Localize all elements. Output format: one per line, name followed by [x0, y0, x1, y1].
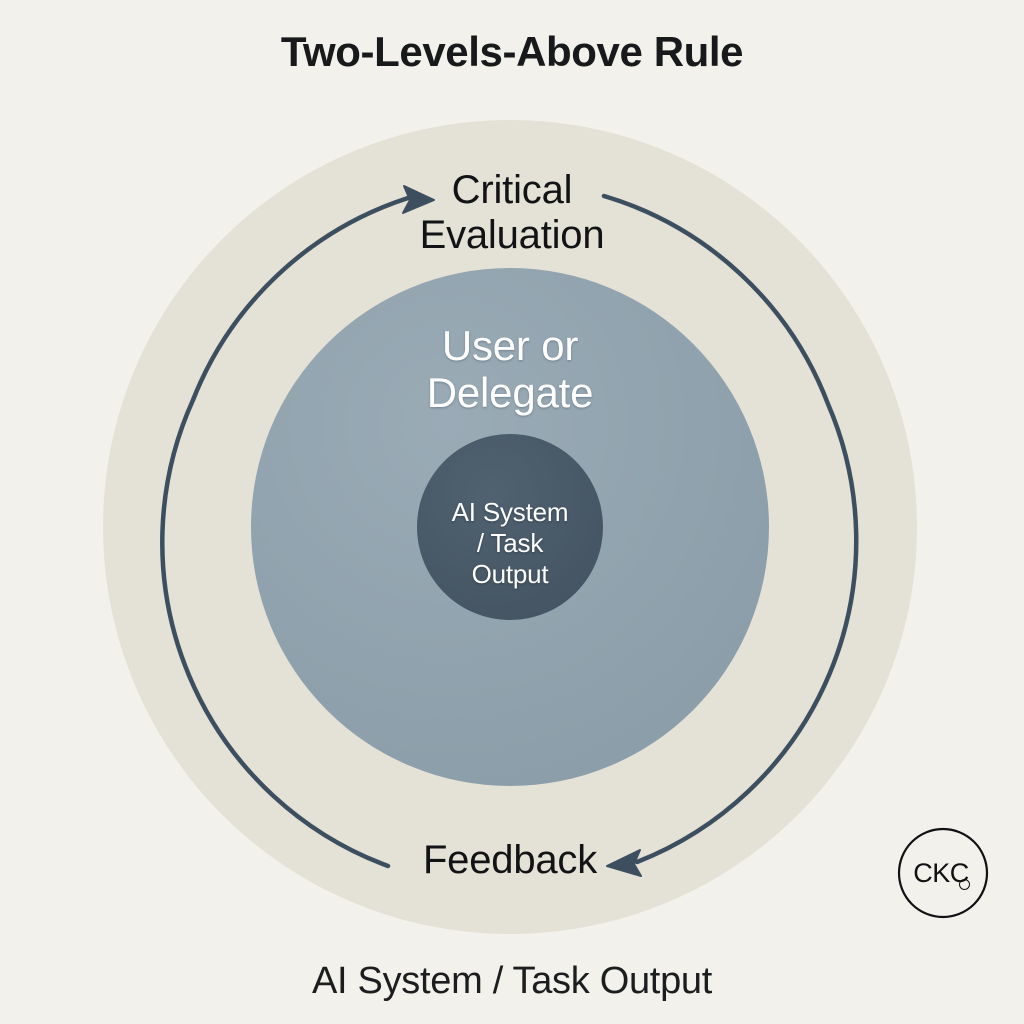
ckc-logo: CKC [897, 827, 989, 919]
label-ai-system-task-output: AI System / Task Output [420, 497, 600, 591]
page-title: Two-Levels-Above Rule [0, 28, 1024, 76]
label-user-or-delegate: User or Delegate [310, 322, 710, 416]
label-critical-evaluation: Critical Evaluation [312, 168, 712, 258]
label-feedback: Feedback [310, 838, 710, 883]
diagram-canvas: Two-Levels-Above Rule Critical Evaluatio… [0, 0, 1024, 1024]
logo-degree-mark-icon [959, 879, 970, 890]
logo-text: CKC [897, 827, 989, 919]
page-caption: AI System / Task Output [0, 960, 1024, 1003]
